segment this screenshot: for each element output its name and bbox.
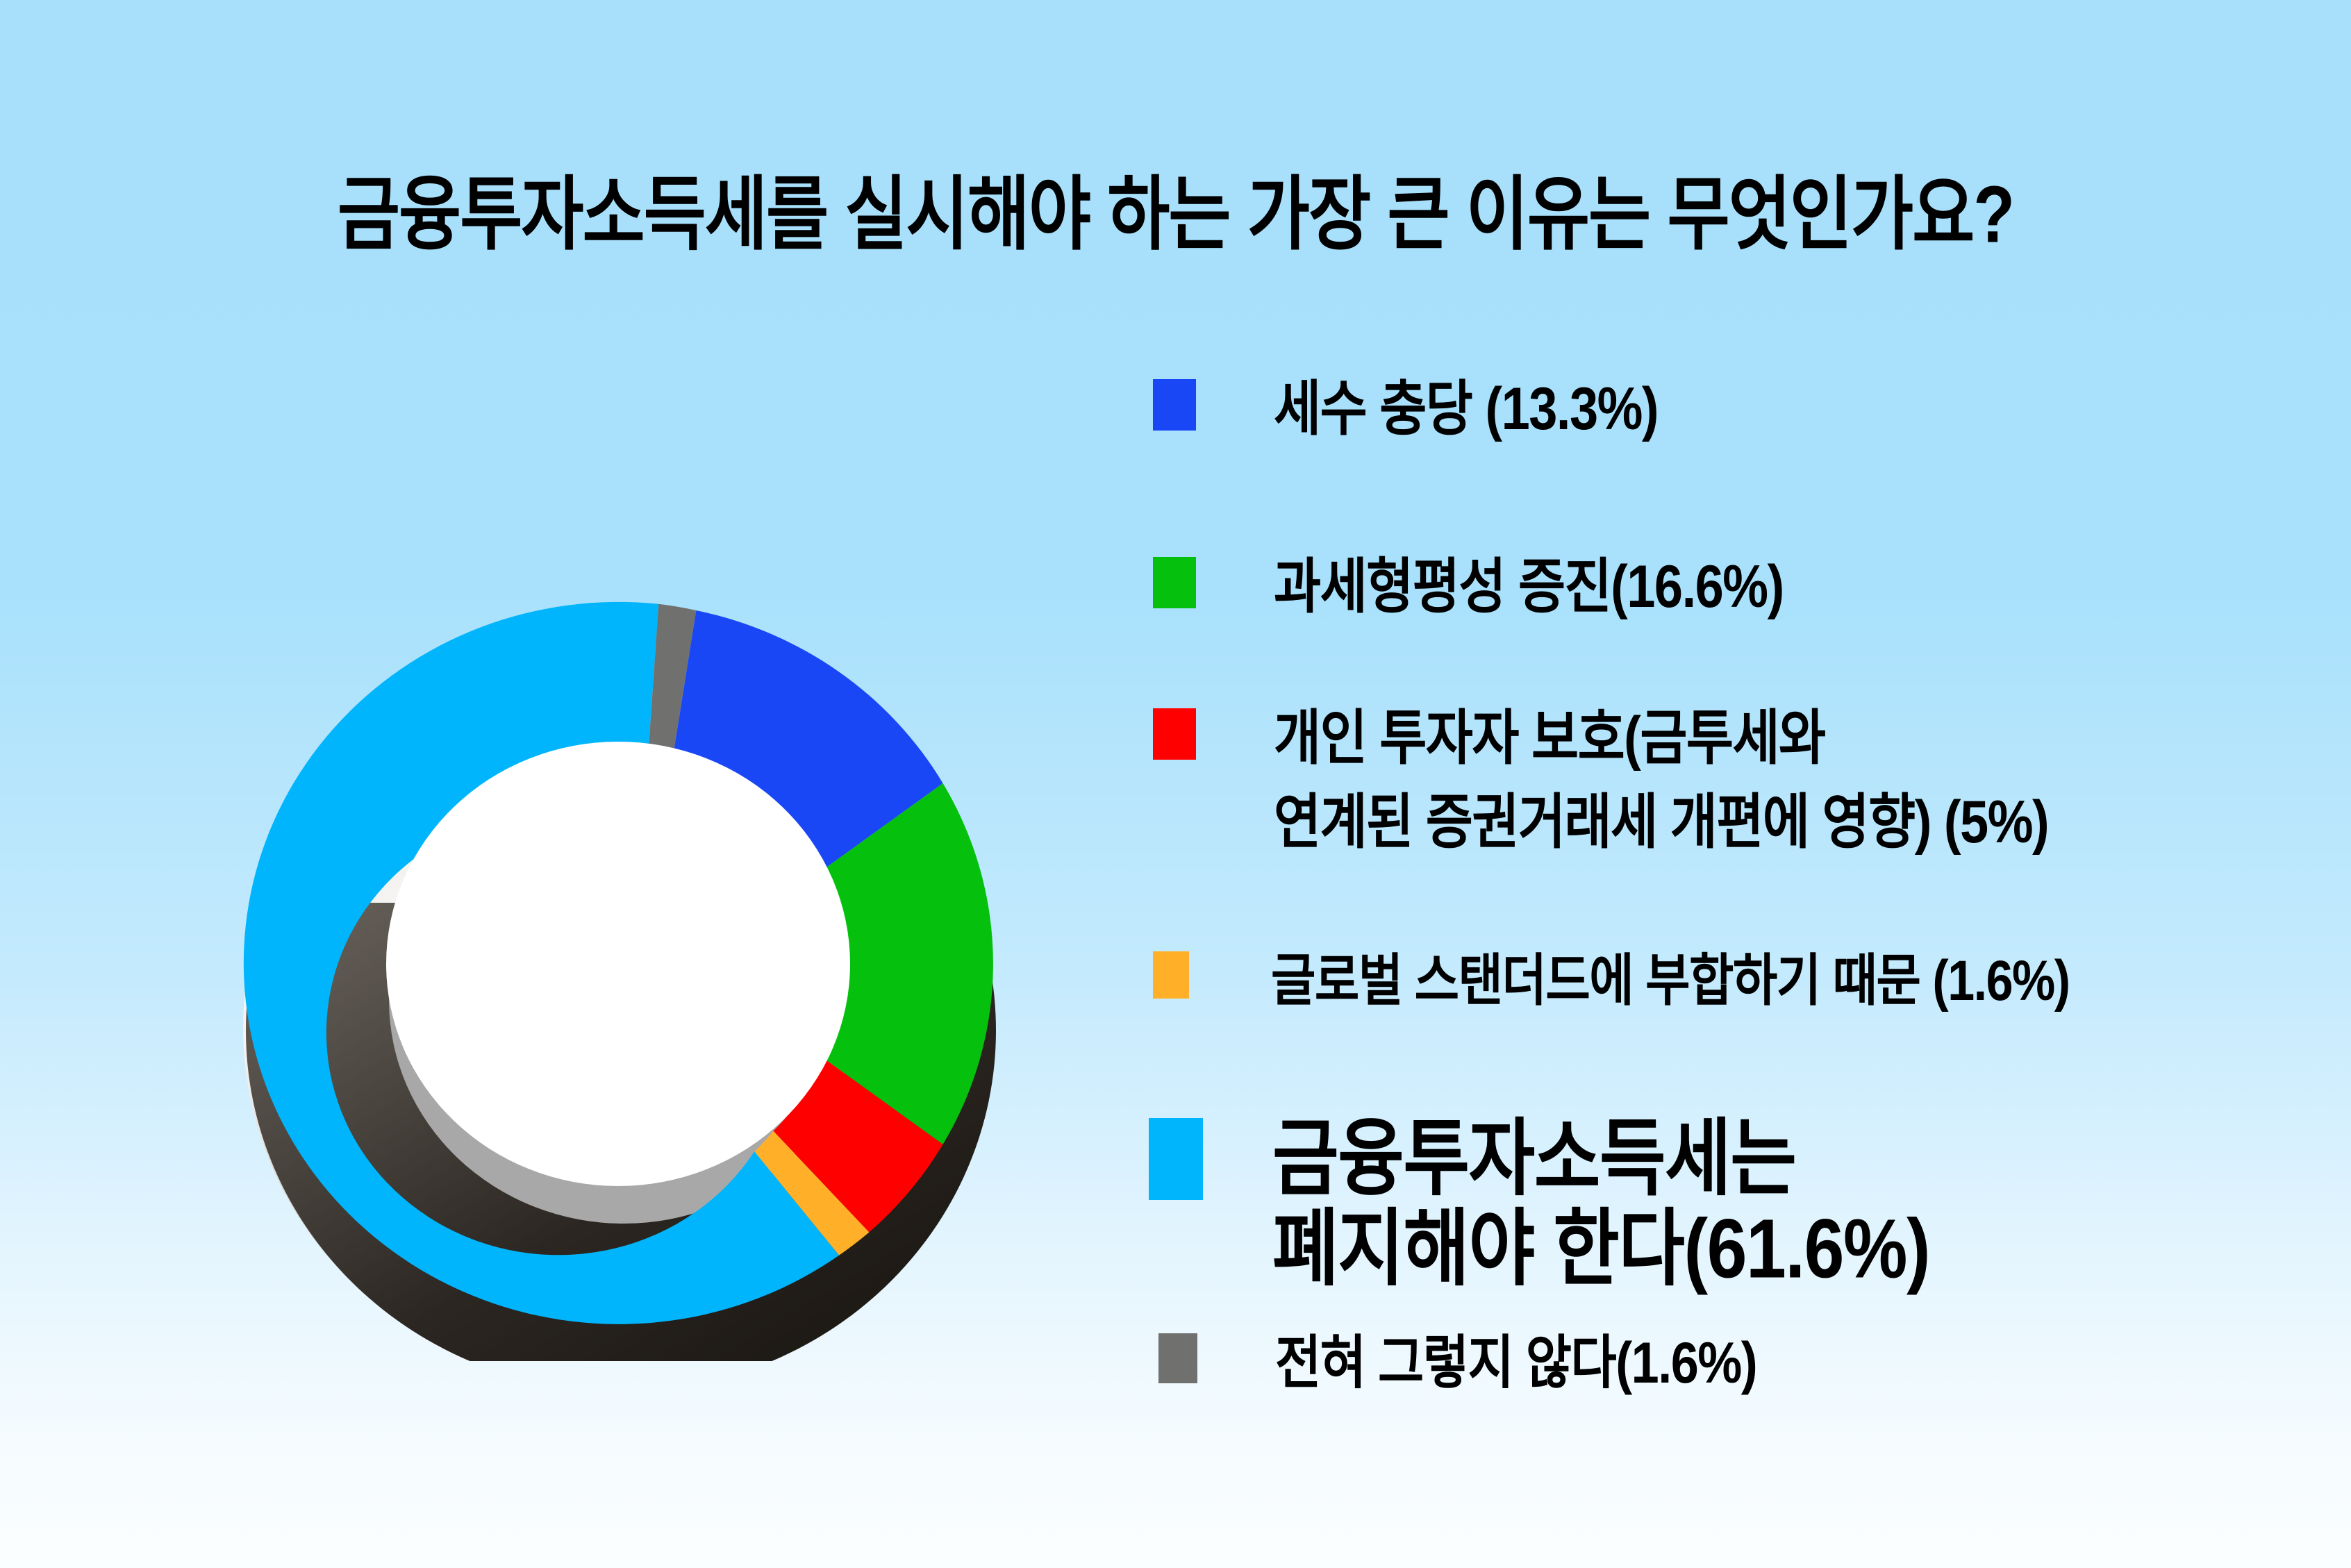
page-title: 금융투자소득세를 실시해야 하는 가장 큰 이유는 무엇인가요? (0, 149, 2351, 266)
legend-item-not-at-all[interactable]: 전혀 그렇지 않다(1.6%) (1158, 1333, 1756, 1385)
legend-item-tax-equity[interactable]: 과세형평성 증진(16.6%) (1153, 557, 1784, 610)
legend-swatch-green (1153, 557, 1196, 608)
legend-swatch-orange (1153, 951, 1189, 999)
legend-label-not-at-all: 전혀 그렇지 않다(1.6%) (1275, 1333, 1756, 1394)
legend-label-global-standard: 글로벌 스탠더드에 부합하기 때문 (1.6%) (1271, 951, 2070, 1010)
legend-swatch-red (1153, 708, 1196, 760)
donut-chart (174, 444, 1063, 1361)
legend-item-investor-protection[interactable]: 개인 투자자 보호(금투세와 연계된 증권거래세 개편에 영향) (5%) (1153, 708, 2048, 833)
legend-item-global-standard[interactable]: 글로벌 스탠더드에 부합하기 때문 (1.6%) (1153, 951, 2070, 1002)
legend-swatch-blue (1153, 379, 1196, 431)
chart-legend: 세수 충당 (13.3%) 과세형평성 증진(16.6%) 개인 투자자 보호(… (1139, 361, 2320, 1458)
legend-swatch-cyan (1149, 1118, 1203, 1200)
donut-hole (386, 742, 850, 1186)
infographic-canvas: 금융투자소득세를 실시해야 하는 가장 큰 이유는 무엇인가요? (0, 0, 2351, 1568)
legend-swatch-gray (1158, 1333, 1197, 1383)
legend-label-tax-equity: 과세형평성 증진(16.6%) (1274, 556, 1784, 618)
legend-label-tax-revenue: 세수 충당 (13.3%) (1274, 378, 1658, 440)
legend-label-abolish: 금융투자소득세는 폐지해야 한다(61.6%) (1272, 1114, 1929, 1294)
donut-chart-svg (174, 444, 1063, 1361)
legend-label-investor-protection: 개인 투자자 보호(금투세와 연계된 증권거래세 개편에 영향) (5%) (1274, 707, 2048, 853)
legend-item-abolish[interactable]: 금융투자소득세는 폐지해야 한다(61.6%) (1149, 1118, 1929, 1269)
legend-item-tax-revenue[interactable]: 세수 충당 (13.3%) (1153, 379, 1658, 432)
